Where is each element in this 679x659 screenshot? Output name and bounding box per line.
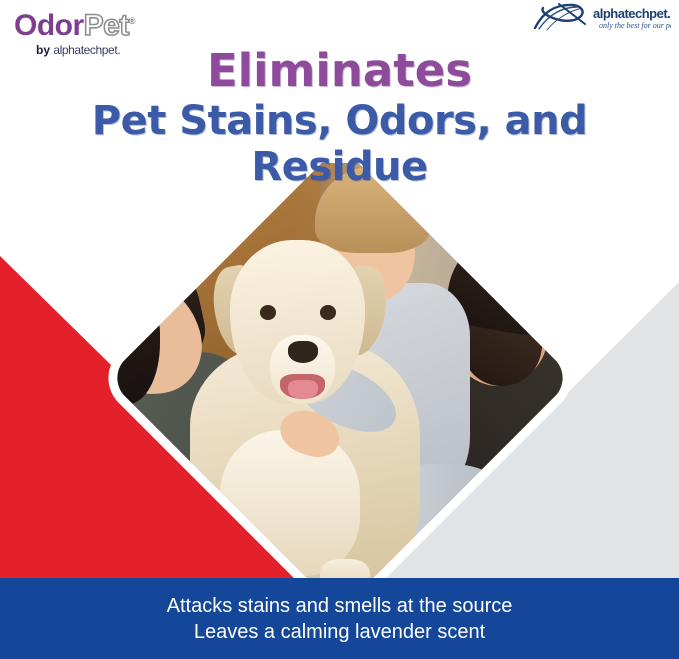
photo-dog-eye-right (320, 305, 336, 320)
photo-dog-tongue (288, 380, 318, 399)
odorpet-word-odor: Odor (14, 9, 84, 42)
registered-trademark-icon: ® (129, 16, 135, 26)
svg-text:only the best for our pets: only the best for our pets (599, 21, 671, 30)
alphatechpet-logo: alphatechpet. only the best for our pets (529, 2, 671, 48)
photo-dog-nose (288, 341, 318, 363)
benefit-line-2: Leaves a calming lavender scent (194, 619, 485, 645)
benefit-line-1: Attacks stains and smells at the source (167, 593, 513, 619)
benefits-banner: Attacks stains and smells at the source … (0, 578, 679, 659)
odorpet-wordmark: OdorPet® (14, 6, 174, 41)
advertisement-canvas: OdorPet® by alphatechpet. alphatechpet. … (0, 0, 679, 659)
page-headline-primary: Eliminates (0, 44, 679, 97)
atp-monogram-icon: alphatechpet. only the best for our pets (529, 2, 671, 32)
odorpet-word-pet: Pet (84, 9, 129, 42)
svg-text:alphatechpet.: alphatechpet. (593, 6, 670, 21)
page-headline-secondary: Pet Stains, Odors, and Residue (0, 98, 679, 190)
photo-dog-eye-left (260, 305, 276, 320)
